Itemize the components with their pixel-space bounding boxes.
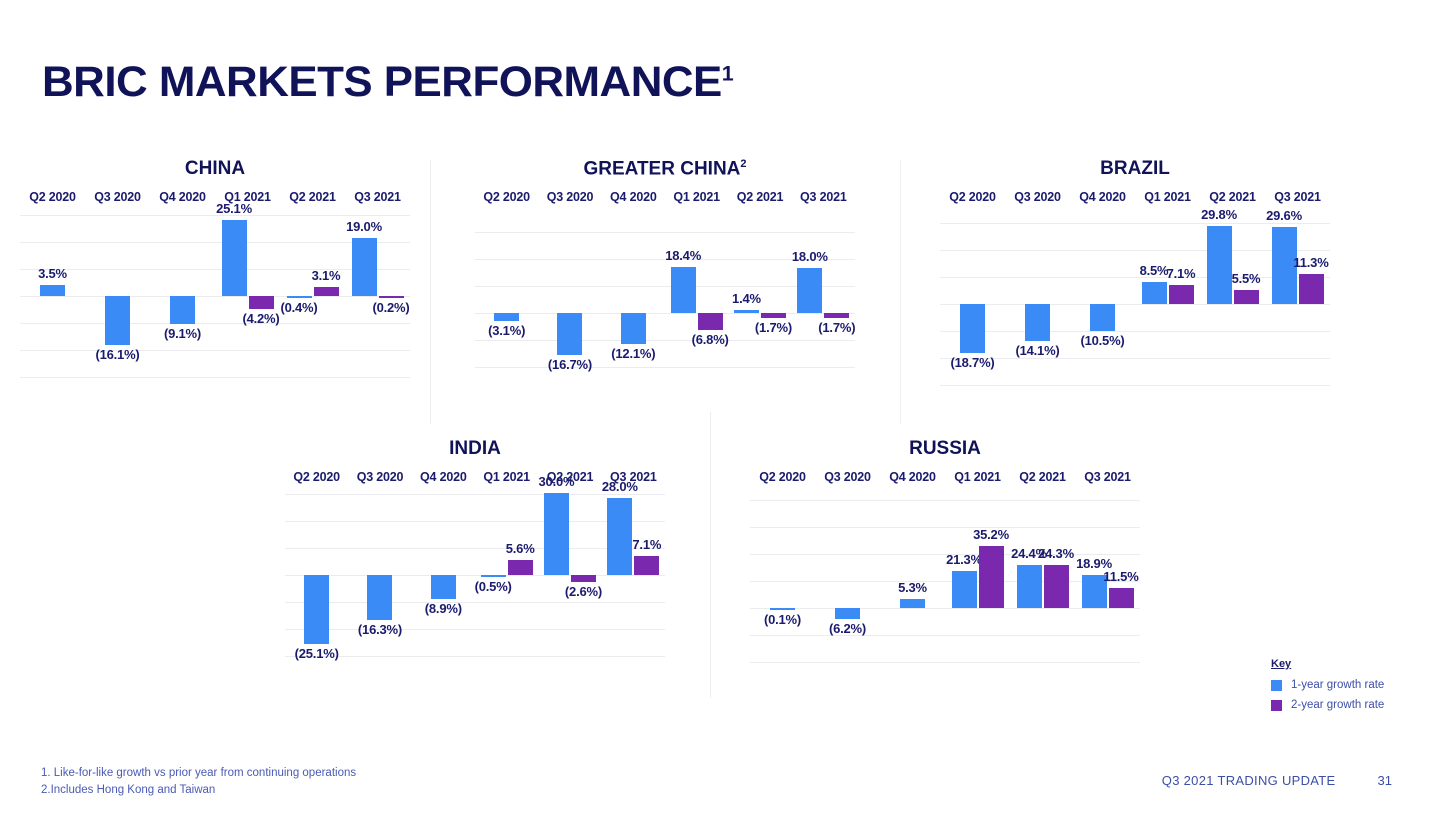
legend-label-2-year: 2-year growth rate	[1291, 699, 1384, 711]
bar-1-year	[952, 571, 977, 608]
category-label: Q1 2021	[945, 470, 1010, 484]
bar-group-inner: (12.1%)	[602, 213, 665, 393]
bar-group: (0.1%)	[750, 493, 815, 678]
bar-group: (0.5%)5.6%	[475, 493, 538, 668]
chart-title-text: RUSSIA	[909, 438, 981, 459]
bar-1-year	[287, 296, 312, 298]
bar-2-year	[1109, 588, 1134, 608]
bar-group-inner: (16.7%)	[538, 213, 601, 393]
chart-category-axis: Q2 2020Q3 2020Q4 2020Q1 2021Q2 2021Q3 20…	[20, 190, 410, 204]
bar-value-label: 3.1%	[312, 268, 341, 283]
bar-group-inner: (18.7%)	[940, 213, 1005, 398]
chart-title-text: GREATER CHINA	[583, 158, 740, 179]
bar-group: (10.5%)	[1070, 213, 1135, 398]
bar-value-label: (14.1%)	[1015, 343, 1059, 358]
bar-2-year	[1169, 285, 1194, 304]
chart-panel-russia: RUSSIAQ2 2020Q3 2020Q4 2020Q1 2021Q2 202…	[710, 438, 1180, 688]
bar-2-year	[1234, 290, 1259, 304]
page-title-text: BRIC MARKETS PERFORMANCE	[42, 58, 722, 106]
bar-group-inner: 24.4%24.3%	[1010, 493, 1075, 678]
bar-2-year	[824, 313, 849, 317]
bar-value-label: (6.2%)	[829, 621, 866, 636]
category-label: Q4 2020	[412, 470, 475, 484]
bar-1-year	[494, 313, 519, 321]
bar-group-inner: (3.1%)	[475, 213, 538, 393]
bar-value-label: 29.8%	[1201, 207, 1237, 222]
chart-panel-china: CHINAQ2 2020Q3 2020Q4 2020Q1 2021Q2 2021…	[0, 158, 430, 416]
chart-category-axis: Q2 2020Q3 2020Q4 2020Q1 2021Q2 2021Q3 20…	[750, 470, 1140, 484]
bar-2-year	[761, 313, 786, 317]
bar-group: 25.1%(4.2%)	[215, 213, 280, 393]
category-label: Q3 2021	[345, 190, 410, 204]
bar-value-label: 7.1%	[632, 537, 661, 552]
page-title-footnote-marker: 1	[722, 63, 733, 86]
bar-group: (3.1%)	[475, 213, 538, 393]
bar-group-inner: 1.4%(1.7%)	[728, 213, 791, 393]
bar-1-year	[960, 304, 985, 353]
bar-1-year	[304, 575, 329, 644]
category-label: Q3 2020	[85, 190, 150, 204]
category-label: Q3 2021	[792, 190, 855, 204]
chart-panel-india: INDIAQ2 2020Q3 2020Q4 2020Q1 2021Q2 2021…	[240, 438, 710, 688]
chart-plot-area: (25.1%)(16.3%)(8.9%)(0.5%)5.6%30.0%(2.6%…	[285, 493, 665, 668]
chart-plot-area: (0.1%)(6.2%)5.3%21.3%35.2%24.4%24.3%18.9…	[750, 493, 1140, 678]
bar-value-label: (16.1%)	[95, 347, 139, 362]
bar-1-year	[557, 313, 582, 355]
category-label: Q3 2021	[1265, 190, 1330, 204]
chart-bar-groups: (18.7%)(14.1%)(10.5%)8.5%7.1%29.8%5.5%29…	[940, 213, 1330, 398]
bar-group-inner: (0.1%)	[750, 493, 815, 678]
bar-value-label: (25.1%)	[295, 646, 339, 661]
bar-value-label: 28.0%	[602, 479, 638, 494]
bar-1-year	[607, 498, 632, 575]
bar-value-label: 18.4%	[665, 248, 701, 263]
chart-title-text: INDIA	[449, 438, 501, 459]
chart-title-russia: RUSSIA	[710, 438, 1180, 460]
bar-value-label: 5.5%	[1232, 271, 1261, 286]
bar-2-year	[314, 287, 339, 296]
bar-value-label: 19.0%	[346, 219, 382, 234]
bar-value-label: 5.6%	[506, 541, 535, 556]
bar-1-year	[170, 296, 195, 324]
bar-group: 8.5%7.1%	[1135, 213, 1200, 398]
bar-group: 1.4%(1.7%)	[728, 213, 791, 393]
bar-1-year	[1025, 304, 1050, 341]
category-label: Q2 2020	[475, 190, 538, 204]
footnote-1: 1. Like-for-like growth vs prior year fr…	[41, 765, 356, 782]
bar-1-year	[770, 608, 795, 610]
bar-group-inner: 3.5%	[20, 213, 85, 393]
footer-page-number: 31	[1378, 773, 1392, 788]
bar-group-inner: (14.1%)	[1005, 213, 1070, 398]
category-label: Q1 2021	[475, 470, 538, 484]
chart-category-axis: Q2 2020Q3 2020Q4 2020Q1 2021Q2 2021Q3 20…	[940, 190, 1330, 204]
bar-group-inner: (8.9%)	[412, 493, 475, 668]
category-label: Q4 2020	[880, 470, 945, 484]
bar-1-year	[1090, 304, 1115, 331]
legend-swatch-blue-icon	[1271, 680, 1282, 691]
footer: Q3 2021 TRADING UPDATE 31	[1162, 773, 1392, 788]
category-label: Q2 2020	[285, 470, 348, 484]
bar-value-label: (16.3%)	[358, 622, 402, 637]
chart-panel-greater-china: GREATER CHINA2Q2 2020Q3 2020Q4 2020Q1 20…	[430, 158, 900, 416]
bar-group-inner: (0.4%)3.1%	[280, 213, 345, 393]
bar-value-label: 24.3%	[1038, 546, 1074, 561]
legend-heading: Key	[1271, 658, 1421, 670]
legend-item-1-year: 1-year growth rate	[1271, 679, 1421, 691]
chart-bar-groups: 3.5%(16.1%)(9.1%)25.1%(4.2%)(0.4%)3.1%19…	[20, 213, 410, 393]
chart-title-greater-china: GREATER CHINA2	[430, 158, 900, 180]
bar-group-inner: 18.4%(6.8%)	[665, 213, 728, 393]
bar-value-label: (9.1%)	[164, 326, 201, 341]
bar-group-inner: (25.1%)	[285, 493, 348, 668]
bar-2-year	[379, 296, 404, 298]
bar-value-label: (2.6%)	[565, 584, 602, 599]
category-label: Q2 2021	[1200, 190, 1265, 204]
chart-category-axis: Q2 2020Q3 2020Q4 2020Q1 2021Q2 2021Q3 20…	[475, 190, 855, 204]
chart-panel-brazil: BRAZILQ2 2020Q3 2020Q4 2020Q1 2021Q2 202…	[900, 158, 1370, 416]
category-label: Q3 2020	[348, 470, 411, 484]
bar-value-label: (1.7%)	[818, 320, 855, 335]
bar-value-label: 8.5%	[1140, 263, 1169, 278]
category-label: Q1 2021	[1135, 190, 1200, 204]
bar-group: (0.4%)3.1%	[280, 213, 345, 393]
bar-group-inner: 21.3%35.2%	[945, 493, 1010, 678]
chart-bar-groups: (25.1%)(16.3%)(8.9%)(0.5%)5.6%30.0%(2.6%…	[285, 493, 665, 668]
bar-value-label: (0.5%)	[475, 579, 512, 594]
bar-2-year	[508, 560, 533, 575]
bar-value-label: (6.8%)	[692, 332, 729, 347]
bar-1-year	[1207, 226, 1232, 304]
bar-value-label: 25.1%	[216, 201, 252, 216]
bar-group: 18.4%(6.8%)	[665, 213, 728, 393]
bar-group-inner: 18.0%(1.7%)	[792, 213, 855, 393]
bar-group-inner: (10.5%)	[1070, 213, 1135, 398]
bar-value-label: (4.2%)	[242, 311, 279, 326]
bar-group-inner: (16.1%)	[85, 213, 150, 393]
bar-2-year	[634, 556, 659, 575]
bar-group-inner: (0.5%)5.6%	[475, 493, 538, 668]
category-label: Q3 2021	[1075, 470, 1140, 484]
bar-1-year	[352, 238, 377, 296]
page-title: BRIC MARKETS PERFORMANCE1	[42, 58, 733, 107]
bar-1-year	[40, 285, 65, 296]
bar-2-year	[698, 313, 723, 330]
bar-1-year	[367, 575, 392, 620]
bar-value-label: (10.5%)	[1080, 333, 1124, 348]
chart-title-text: CHINA	[185, 158, 245, 179]
bar-group: (16.3%)	[348, 493, 411, 668]
category-label: Q4 2020	[150, 190, 215, 204]
category-label: Q2 2021	[728, 190, 791, 204]
bar-2-year	[1299, 274, 1324, 304]
bar-group-inner: 5.3%	[880, 493, 945, 678]
bar-group: (14.1%)	[1005, 213, 1070, 398]
bar-group: (18.7%)	[940, 213, 1005, 398]
bar-group-inner: 29.8%5.5%	[1200, 213, 1265, 398]
footnote-2: 2.Includes Hong Kong and Taiwan	[41, 782, 356, 799]
chart-row-bottom: INDIAQ2 2020Q3 2020Q4 2020Q1 2021Q2 2021…	[240, 438, 1180, 688]
category-label: Q3 2020	[1005, 190, 1070, 204]
category-label: Q3 2020	[538, 190, 601, 204]
bar-value-label: 21.3%	[946, 552, 982, 567]
category-label: Q2 2021	[280, 190, 345, 204]
chart-title-footnote-marker: 2	[740, 158, 746, 170]
bar-2-year	[979, 546, 1004, 608]
bar-value-label: 11.5%	[1103, 569, 1138, 584]
bar-group: (8.9%)	[412, 493, 475, 668]
bar-group: (25.1%)	[285, 493, 348, 668]
category-label: Q1 2021	[665, 190, 728, 204]
category-label: Q2 2021	[1010, 470, 1075, 484]
bar-value-label: (8.9%)	[425, 601, 462, 616]
bar-value-label: (18.7%)	[950, 355, 994, 370]
bar-group: 24.4%24.3%	[1010, 493, 1075, 678]
bar-1-year	[900, 599, 925, 608]
chart-title-text: BRAZIL	[1100, 158, 1170, 179]
category-label: Q3 2020	[815, 470, 880, 484]
chart-title-china: CHINA	[0, 158, 430, 180]
bar-group: (6.2%)	[815, 493, 880, 678]
category-label: Q2 2020	[750, 470, 815, 484]
bar-1-year	[1142, 282, 1167, 304]
bar-group-inner: 30.0%(2.6%)	[538, 493, 601, 668]
bar-2-year	[1044, 565, 1069, 608]
bar-value-label: 18.0%	[792, 249, 828, 264]
bar-group: 29.6%11.3%	[1265, 213, 1330, 398]
bar-group: 3.5%	[20, 213, 85, 393]
bar-group: 21.3%35.2%	[945, 493, 1010, 678]
bar-value-label: 5.3%	[898, 580, 927, 595]
bar-value-label: 7.1%	[1167, 266, 1196, 281]
chart-plot-area: 3.5%(16.1%)(9.1%)25.1%(4.2%)(0.4%)3.1%19…	[20, 213, 410, 393]
bar-2-year	[571, 575, 596, 582]
bar-value-label: (0.4%)	[280, 300, 317, 315]
bar-value-label: (3.1%)	[488, 323, 525, 338]
category-label: Q4 2020	[1070, 190, 1135, 204]
chart-plot-area: (18.7%)(14.1%)(10.5%)8.5%7.1%29.8%5.5%29…	[940, 213, 1330, 398]
footnotes: 1. Like-for-like growth vs prior year fr…	[41, 765, 356, 799]
bar-group: 30.0%(2.6%)	[538, 493, 601, 668]
bar-group-inner: 28.0%7.1%	[602, 493, 665, 668]
bar-group: 19.0%(0.2%)	[345, 213, 410, 393]
bar-value-label: (0.2%)	[372, 300, 409, 315]
legend-label-1-year: 1-year growth rate	[1291, 679, 1384, 691]
category-label: Q2 2020	[20, 190, 85, 204]
bar-value-label: 29.6%	[1266, 208, 1302, 223]
category-label: Q2 2020	[940, 190, 1005, 204]
bar-group-inner: (16.3%)	[348, 493, 411, 668]
legend-item-2-year: 2-year growth rate	[1271, 699, 1421, 711]
bar-1-year	[797, 268, 822, 313]
bar-group-inner: 8.5%7.1%	[1135, 213, 1200, 398]
bar-group: 18.0%(1.7%)	[792, 213, 855, 393]
bar-1-year	[1017, 565, 1042, 608]
bar-group: (16.1%)	[85, 213, 150, 393]
bar-1-year	[671, 267, 696, 313]
slide-root: BRIC MARKETS PERFORMANCE1 CHINAQ2 2020Q3…	[0, 0, 1433, 815]
bar-group: (9.1%)	[150, 213, 215, 393]
bar-group-inner: 29.6%11.3%	[1265, 213, 1330, 398]
bar-1-year	[222, 220, 247, 296]
bar-value-label: 35.2%	[973, 527, 1009, 542]
legend-swatch-purple-icon	[1271, 700, 1282, 711]
bar-1-year	[734, 310, 759, 314]
bar-group-inner: 25.1%(4.2%)	[215, 213, 280, 393]
bar-value-label: 3.5%	[38, 266, 67, 281]
chart-plot-area: (3.1%)(16.7%)(12.1%)18.4%(6.8%)1.4%(1.7%…	[475, 213, 855, 393]
bar-value-label: (16.7%)	[548, 357, 592, 372]
bar-value-label: (0.1%)	[764, 612, 801, 627]
bar-group-inner: 19.0%(0.2%)	[345, 213, 410, 393]
bar-1-year	[621, 313, 646, 343]
bar-group: 29.8%5.5%	[1200, 213, 1265, 398]
chart-row-top: CHINAQ2 2020Q3 2020Q4 2020Q1 2021Q2 2021…	[0, 158, 1433, 416]
bar-1-year	[481, 575, 506, 577]
chart-bar-groups: (0.1%)(6.2%)5.3%21.3%35.2%24.4%24.3%18.9…	[750, 493, 1140, 678]
bar-value-label: (12.1%)	[611, 346, 655, 361]
bar-group: 18.9%11.5%	[1075, 493, 1140, 678]
bar-value-label: 11.3%	[1293, 255, 1328, 270]
bar-1-year	[431, 575, 456, 599]
bar-value-label: 30.0%	[539, 474, 575, 489]
bar-group-inner: (6.2%)	[815, 493, 880, 678]
bar-1-year	[544, 493, 569, 575]
bar-value-label: 1.4%	[732, 291, 761, 306]
legend-key: Key 1-year growth rate 2-year growth rat…	[1271, 658, 1421, 719]
chart-title-brazil: BRAZIL	[900, 158, 1370, 180]
footer-deck-title: Q3 2021 TRADING UPDATE	[1162, 773, 1336, 788]
bar-group: 28.0%7.1%	[602, 493, 665, 668]
bar-group: 5.3%	[880, 493, 945, 678]
bar-group: (12.1%)	[602, 213, 665, 393]
bar-group-inner: (9.1%)	[150, 213, 215, 393]
bar-1-year	[835, 608, 860, 619]
chart-bar-groups: (3.1%)(16.7%)(12.1%)18.4%(6.8%)1.4%(1.7%…	[475, 213, 855, 393]
bar-value-label: (1.7%)	[755, 320, 792, 335]
chart-title-india: INDIA	[240, 438, 710, 460]
category-label: Q4 2020	[602, 190, 665, 204]
bar-group: (16.7%)	[538, 213, 601, 393]
bar-group-inner: 18.9%11.5%	[1075, 493, 1140, 678]
bar-1-year	[105, 296, 130, 345]
bar-2-year	[249, 296, 274, 309]
